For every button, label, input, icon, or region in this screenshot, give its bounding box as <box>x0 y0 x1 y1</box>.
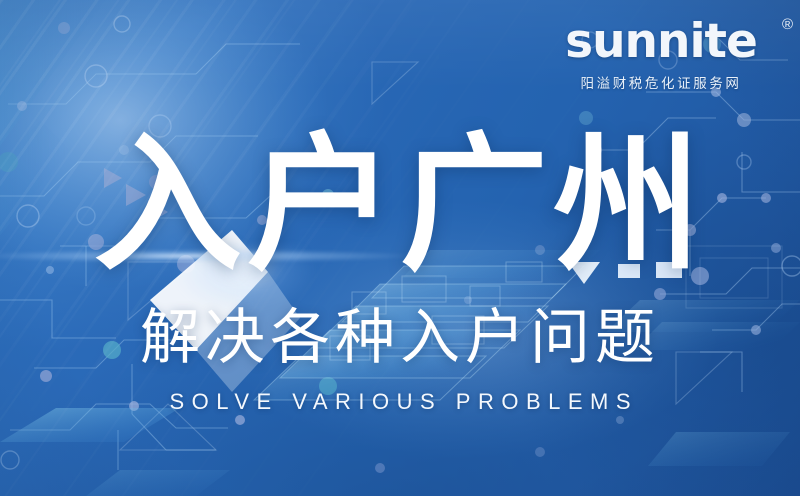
page-title: 入户广州 <box>0 131 800 279</box>
subtitle-english: SOLVE VARIOUS PROBLEMS <box>0 391 800 413</box>
brand-logo[interactable]: sunnite ® 阳溢财税危化证服务网 <box>546 18 776 92</box>
logo-subtitle: 阳溢财税危化证服务网 <box>546 72 776 92</box>
subtitle-chinese: 解决各种入户问题 <box>0 308 800 368</box>
logo-wordmark: sunnite <box>565 18 757 65</box>
registered-trademark-icon: ® <box>782 16 793 33</box>
promotional-banner: sunnite ® 阳溢财税危化证服务网 入户广州 解决各种入户问题 SOLVE… <box>0 0 800 496</box>
